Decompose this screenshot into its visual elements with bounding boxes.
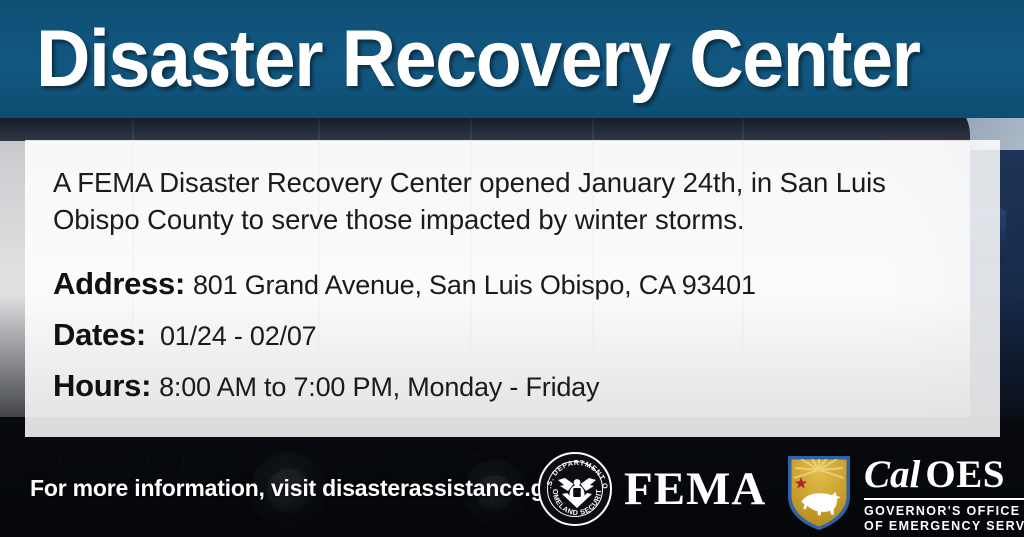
- intro-paragraph: A FEMA Disaster Recovery Center opened J…: [53, 164, 958, 238]
- cal-oes-title-roman: OES: [925, 453, 1005, 496]
- disaster-recovery-center-poster: Disaster Recovery Center A FEMA Disaster…: [0, 0, 1024, 537]
- content-panel: A FEMA Disaster Recovery Center opened J…: [25, 140, 1000, 437]
- fema-wordmark: FEMA: [624, 464, 766, 514]
- dates-label: Dates:: [53, 315, 146, 355]
- cal-oes-logo: CalOES GOVERNOR'S OFFICE OF EMERGENCY SE…: [788, 452, 1024, 533]
- cal-oes-subtitle-line-1: GOVERNOR'S OFFICE: [864, 504, 1024, 519]
- cal-oes-text-block: CalOES GOVERNOR'S OFFICE OF EMERGENCY SE…: [864, 452, 1024, 533]
- cal-oes-title: CalOES: [864, 454, 1024, 496]
- cal-oes-title-italic: Cal: [864, 453, 925, 496]
- detail-row-dates: Dates: 01/24 - 02/07: [53, 315, 972, 356]
- california-bear-shield-icon: [788, 456, 850, 530]
- header-bar: Disaster Recovery Center: [0, 0, 1024, 118]
- hours-label: Hours:: [53, 366, 151, 406]
- detail-row-hours: Hours: 8:00 AM to 7:00 PM, Monday - Frid…: [53, 366, 972, 407]
- hours-value: 8:00 AM to 7:00 PM, Monday - Friday: [159, 367, 599, 407]
- address-label: Address:: [53, 264, 185, 304]
- homeland-security-seal-icon: U.S. DEPARTMENT OF HOMELAND SECURITY: [538, 452, 612, 526]
- address-value: 801 Grand Avenue, San Luis Obispo, CA 93…: [193, 265, 756, 305]
- more-information-link[interactable]: For more information, visit disasterassi…: [30, 475, 571, 502]
- page-title: Disaster Recovery Center: [36, 13, 920, 105]
- dates-value: 01/24 - 02/07: [160, 316, 317, 356]
- details-list: Address: 801 Grand Avenue, San Luis Obis…: [53, 264, 972, 407]
- cal-oes-subtitle-line-2: OF EMERGENCY SERVICES: [864, 519, 1024, 534]
- cal-oes-divider: [864, 498, 1024, 500]
- detail-row-address: Address: 801 Grand Avenue, San Luis Obis…: [53, 264, 972, 305]
- fema-logo: U.S. DEPARTMENT OF HOMELAND SECURITY FEM…: [538, 452, 766, 526]
